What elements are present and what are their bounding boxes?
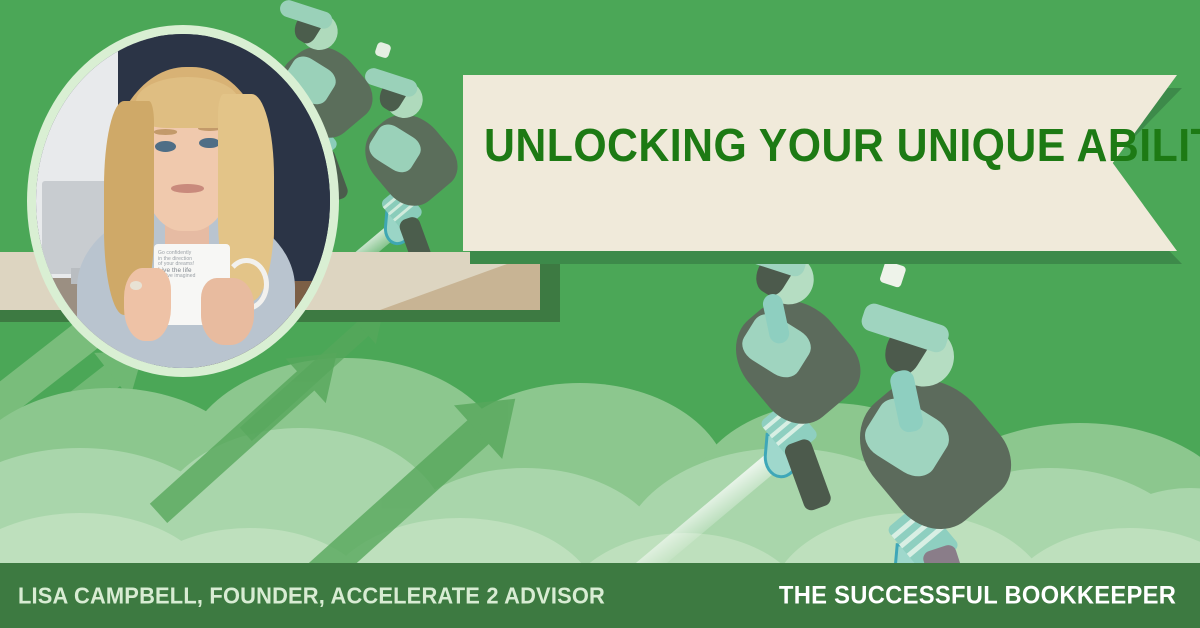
photo-eye-right xyxy=(199,138,220,149)
photo-hand-right xyxy=(201,278,254,345)
show-name: THE SUCCESSFUL BOOKKEEPER xyxy=(779,581,1176,610)
footer-bar: LISA CAMPBELL, FOUNDER, ACCELERATE 2 ADV… xyxy=(0,563,1200,628)
podcast-episode-banner: UNLOCKING YOUR UNIQUE ABILITIES xyxy=(0,0,1200,628)
photo-mouth xyxy=(171,184,203,193)
photo-brow-left xyxy=(154,129,178,134)
photo-eye-left xyxy=(155,141,176,152)
photo-ring xyxy=(130,281,142,290)
guest-photo: Go confidently in the direction of your … xyxy=(36,34,330,368)
mug-quote: Go confidently in the direction of your … xyxy=(158,251,226,280)
page-title: UNLOCKING YOUR UNIQUE ABILITIES xyxy=(484,122,1079,168)
guest-credit: LISA CAMPBELL, FOUNDER, ACCELERATE 2 ADV… xyxy=(18,582,605,609)
avatar: Go confidently in the direction of your … xyxy=(27,25,339,377)
photo-hand-left xyxy=(124,268,171,341)
